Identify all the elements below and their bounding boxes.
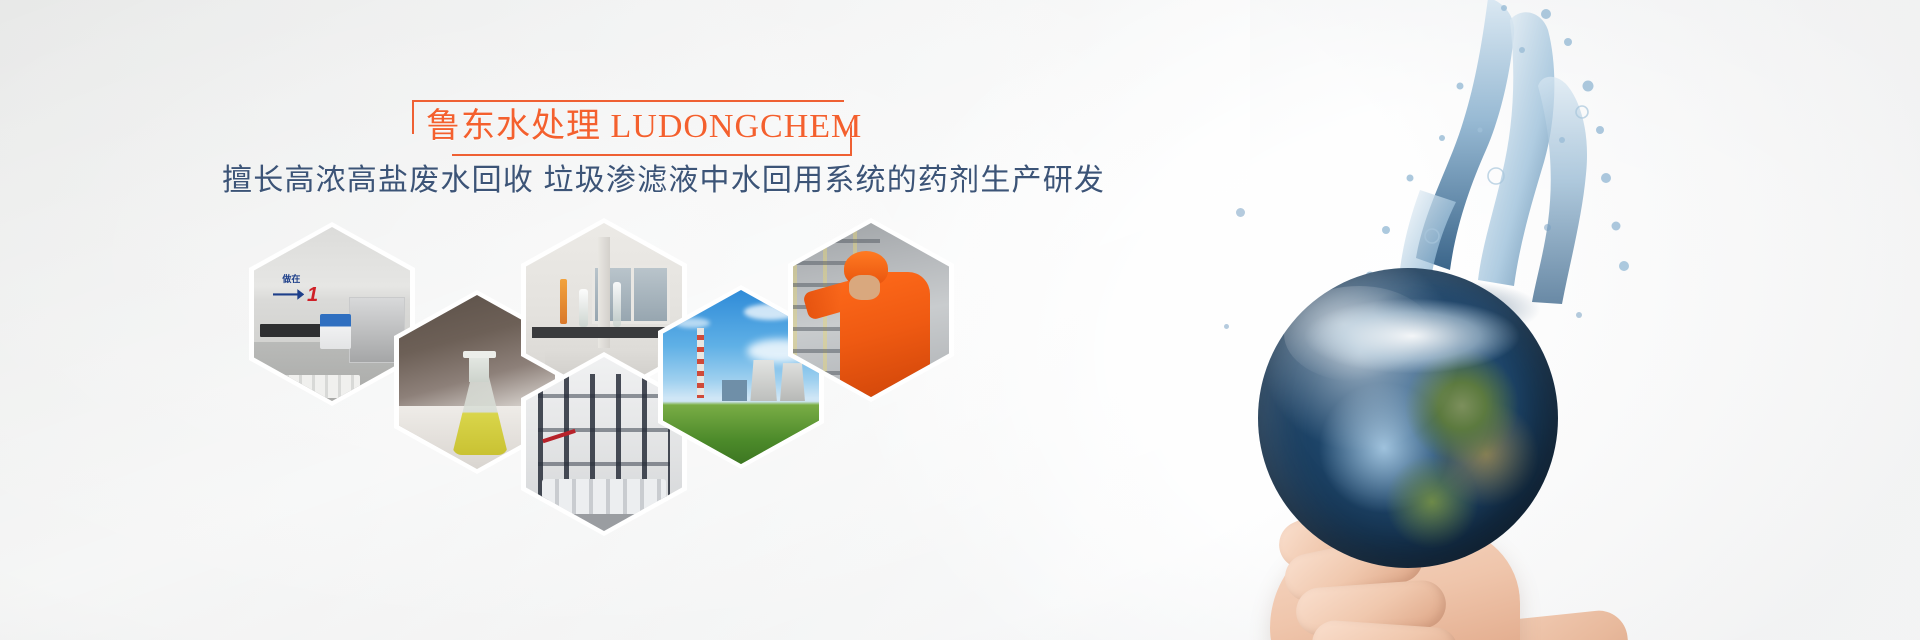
wall-slogan-graphic: 做在 1	[273, 272, 342, 310]
hexagon-gallery: 做在 1	[0, 0, 1000, 640]
globe-water-surface	[1252, 228, 1572, 378]
globe-in-hands	[1258, 268, 1578, 588]
hero-banner: 鲁东水处理 LUDONGCHEM 擅长高浓高盐废水回收 垃圾渗滤液中水回用系统的…	[0, 0, 1920, 640]
hexagon-photo-laboratory-room: 做在 1	[254, 227, 410, 401]
hexagon-tile-laboratory-room[interactable]: 做在 1	[249, 222, 415, 406]
water-globe-artwork	[1090, 0, 1920, 640]
hexagon-photo-field-worker	[793, 223, 949, 397]
